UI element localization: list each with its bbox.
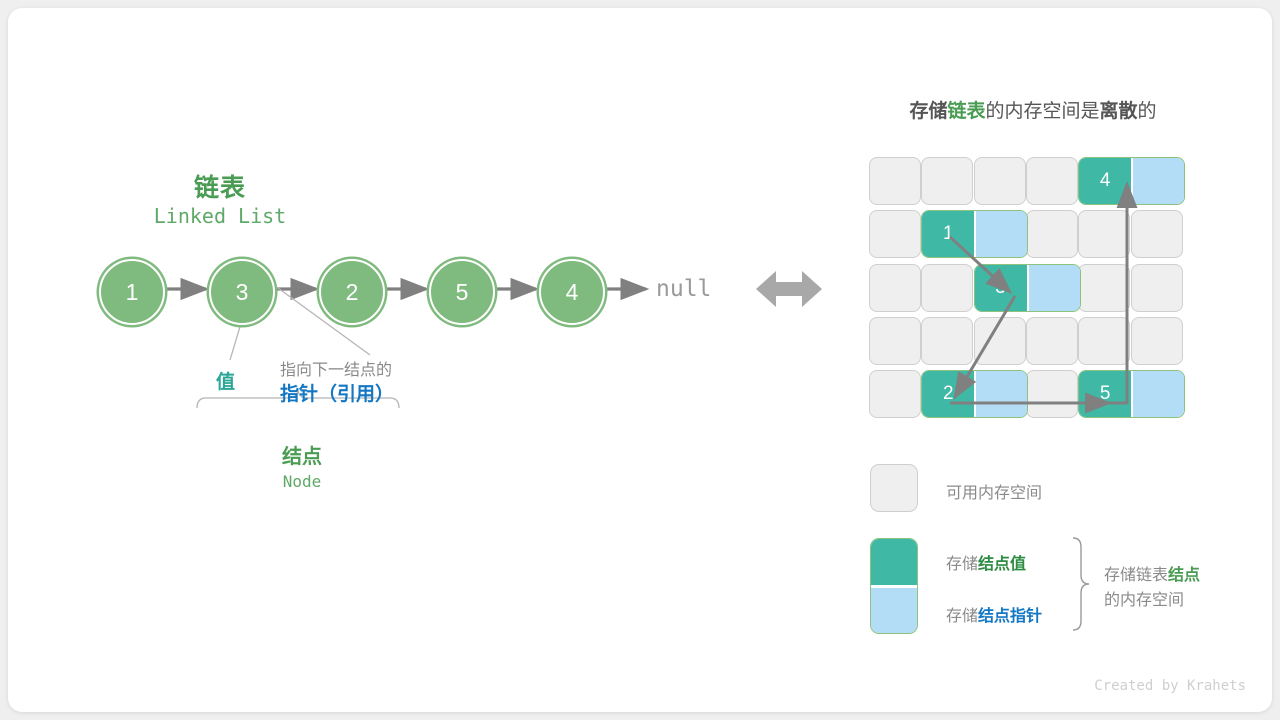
- value-annotation-label: 值: [216, 367, 235, 394]
- memory-cell-empty: [869, 317, 921, 365]
- legend-side-line1: 存储链表结点: [1104, 564, 1200, 589]
- null-terminator-label: null: [656, 276, 711, 302]
- node-brace-label-en: Node: [192, 472, 412, 491]
- memory-title-bold: 离散: [1100, 101, 1138, 122]
- memory-node-pointer: [1029, 265, 1080, 311]
- memory-cell-empty: [1078, 264, 1130, 312]
- memory-cell-empty: [1026, 157, 1078, 205]
- memory-node-value: 3: [975, 265, 1027, 311]
- memory-cell-empty: [869, 210, 921, 258]
- legend-value-label: 存储结点值: [946, 550, 1026, 574]
- legend-brace-icon: [1070, 536, 1092, 636]
- memory-cell-empty: [1078, 317, 1130, 365]
- list-node-2: 2: [319, 259, 385, 325]
- memory-node-value: 4: [1079, 158, 1131, 204]
- legend-side-line1-bold: 结点: [1168, 567, 1200, 584]
- memory-cell-empty: [1026, 210, 1078, 258]
- legend-value-label-bold: 结点值: [978, 556, 1026, 573]
- double-arrow-icon: [756, 266, 822, 312]
- memory-node-pointer: [976, 211, 1027, 257]
- memory-node-pointer: [1133, 371, 1184, 417]
- diagram-card: 链表 Linked List 1 3 2 5 4 null 值 指向下一结点的 …: [8, 8, 1272, 712]
- memory-node-pointer: [1133, 158, 1184, 204]
- memory-title-green: 链表: [947, 101, 985, 122]
- memory-node-cell: 2: [921, 370, 1028, 418]
- list-node-0: 1: [99, 259, 165, 325]
- memory-cell-empty: [921, 264, 973, 312]
- memory-title-prefix: 存储: [909, 101, 947, 122]
- memory-cell-empty: [974, 317, 1026, 365]
- legend-pointer-label: 存储结点指针: [946, 602, 1042, 626]
- node-brace-label-cn: 结点: [192, 440, 412, 469]
- memory-cell-empty: [869, 157, 921, 205]
- memory-node-value: 2: [922, 371, 974, 417]
- legend-side-line2: 的内存空间: [1104, 589, 1200, 614]
- legend-empty-label: 可用内存空间: [946, 479, 1042, 503]
- memory-cell-empty: [921, 157, 973, 205]
- legend-side-line1-prefix: 存储链表: [1104, 567, 1168, 584]
- memory-cell-empty: [921, 317, 973, 365]
- legend-pointer-swatch: [871, 588, 917, 634]
- memory-cell-empty: [974, 157, 1026, 205]
- legend-empty-swatch: [870, 464, 918, 512]
- memory-cell-empty: [1131, 210, 1183, 258]
- credit-label: Created by Krahets: [1094, 678, 1246, 694]
- memory-node-cell: 4: [1078, 157, 1185, 205]
- legend-node-swatch: [870, 538, 918, 634]
- list-node-4: 4: [539, 259, 605, 325]
- pointer-annotation-bottom-label: 指针（引用）: [280, 379, 394, 406]
- memory-cell-empty: [1131, 264, 1183, 312]
- memory-cell-empty: [869, 264, 921, 312]
- legend-pointer-label-bold: 结点指针: [978, 608, 1042, 625]
- list-node-1: 3: [209, 259, 275, 325]
- pointer-annotation-top-label: 指向下一结点的: [280, 356, 392, 380]
- list-node-3: 5: [429, 259, 495, 325]
- legend-value-swatch: [871, 539, 917, 585]
- legend-value-label-prefix: 存储: [946, 556, 978, 573]
- memory-cell-empty: [1078, 210, 1130, 258]
- legend-pointer-label-prefix: 存储: [946, 608, 978, 625]
- memory-title-mid: 的内存空间是: [985, 101, 1099, 122]
- memory-node-value: 5: [1079, 371, 1131, 417]
- legend-side-label: 存储链表结点 的内存空间: [1104, 564, 1200, 614]
- memory-node-cell: 3: [974, 264, 1081, 312]
- memory-cell-empty: [1026, 370, 1078, 418]
- memory-cell-empty: [1131, 317, 1183, 365]
- memory-node-pointer: [976, 371, 1027, 417]
- memory-node-cell: 1: [921, 210, 1028, 258]
- memory-grid: 41325: [869, 157, 1183, 423]
- memory-title: 存储链表的内存空间是离散的: [868, 96, 1198, 123]
- memory-title-suffix: 的: [1138, 101, 1157, 122]
- memory-node-value: 1: [922, 211, 974, 257]
- memory-node-cell: 5: [1078, 370, 1185, 418]
- memory-cell-empty: [1026, 317, 1078, 365]
- memory-cell-empty: [869, 370, 921, 418]
